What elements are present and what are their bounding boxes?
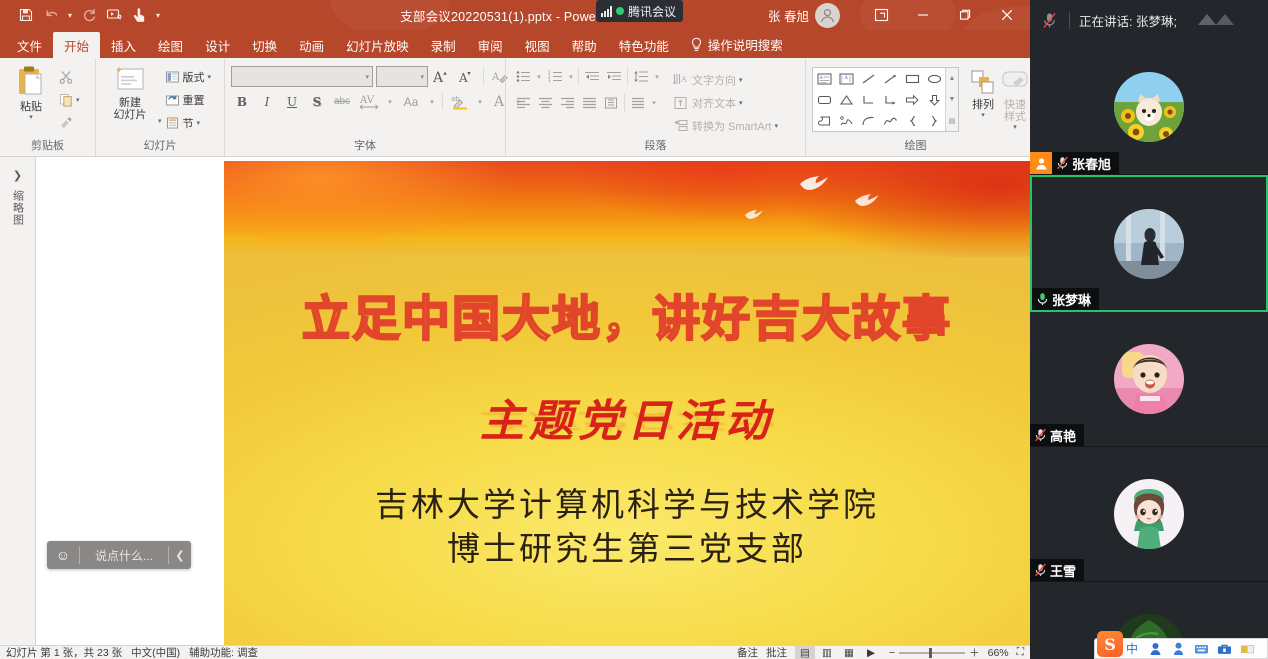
reading-view-button[interactable]: ▦ (839, 646, 859, 659)
shape-folded-corner-icon[interactable] (813, 110, 835, 131)
distribute-icon (604, 97, 619, 109)
grow-font-icon: A (433, 68, 451, 85)
bullets-dropdown-icon[interactable]: ▾ (534, 73, 544, 81)
svg-text:A: A (433, 70, 444, 85)
shrink-font-icon: A (458, 68, 476, 85)
work-area: ❯ 缩略图 立足中国大地，讲好吉大故事 主题党日活动 (0, 157, 1030, 645)
align-center-icon (538, 97, 553, 109)
section-icon (165, 116, 180, 130)
columns-dropdown-icon[interactable]: ▾ (649, 99, 659, 107)
avatar (1114, 479, 1184, 549)
participant-name-bar: 王雪 (1030, 559, 1084, 581)
emoji-icon[interactable]: ☺ (47, 547, 79, 563)
ribbon-display-options-button[interactable] (860, 0, 902, 30)
section-label: 节 (183, 115, 194, 131)
arrange-label: 排列 (972, 99, 994, 111)
zoom-in-icon[interactable]: ＋ (969, 645, 980, 659)
shape-down-arrow-icon[interactable] (923, 89, 945, 110)
participant-tile[interactable]: 王雪 (1030, 447, 1268, 582)
paragraph-group-title: 段落 (506, 137, 805, 156)
line-spacing-dropdown-icon[interactable]: ▾ (652, 73, 662, 81)
zoom-out-icon[interactable]: − (889, 647, 895, 659)
meeting-header: 正在讲话: 张梦琳; (1030, 0, 1268, 40)
text-direction-label: 文字方向 (692, 72, 736, 88)
shape-vertical-textbox-icon[interactable]: A (835, 68, 857, 89)
ime-keyboard-icon[interactable] (1192, 640, 1210, 658)
reset-icon (165, 93, 180, 107)
columns-icon (631, 97, 646, 109)
slides-group-title: 幻灯片 (96, 137, 224, 156)
shape-rounded-rect-icon[interactable] (813, 89, 835, 110)
numbering-icon: 123 (548, 70, 563, 83)
thumbnails-pane[interactable]: ❯ 缩略图 (0, 157, 36, 645)
powerpoint-window: ▾ ▾ 支部会议20220531(1).pptx - PowerPoint (0, 0, 1030, 659)
tab-help[interactable]: 帮助 (561, 32, 608, 58)
font-size-dropdown-icon[interactable]: ▾ (420, 73, 424, 81)
highlighter-icon: ab (450, 93, 470, 110)
slide-subtitle-reflection: 主题党日活动 (224, 408, 1030, 437)
participant-name-bar: 张春旭 (1030, 152, 1119, 174)
copy-icon (59, 93, 73, 107)
svg-text:A: A (818, 75, 823, 81)
chevron-right-icon[interactable]: ❯ (13, 169, 22, 182)
arrange-dropdown-icon[interactable]: ▾ (981, 112, 985, 119)
smartart-icon (673, 119, 689, 133)
customize-qat-icon[interactable]: ▾ (152, 4, 164, 26)
participant-name: 高艳 (1050, 426, 1076, 445)
paragraph-small-buttons: A 文字方向 ▾ 对齐文本 ▾ 转换为 SmartArt ▾ (670, 66, 781, 136)
shape-line-icon[interactable] (857, 68, 879, 89)
shape-rectangle-icon[interactable] (901, 68, 923, 89)
quick-styles-label: 快速样式 (999, 99, 1031, 123)
quick-styles-button[interactable]: 快速样式 ▾ (999, 67, 1031, 131)
shapes-gallery[interactable]: A A (812, 67, 959, 132)
comments-button[interactable]: 批注 (766, 645, 787, 659)
slideshow-view-button[interactable]: ▶ (861, 646, 881, 659)
minimize-button[interactable] (902, 0, 944, 30)
paragraph-row-2: ▾ (512, 92, 662, 113)
cut-button[interactable] (56, 66, 83, 87)
tab-record[interactable]: 录制 (420, 32, 467, 58)
font-name-combo[interactable]: ▾ (231, 66, 373, 87)
layout-label: 版式 (183, 69, 205, 85)
slides-small-buttons: 版式 ▾ 重置 节 ▾ (162, 63, 215, 133)
shape-right-arrow-icon[interactable] (901, 89, 923, 110)
svg-text:AV: AV (359, 95, 375, 106)
ribbon-group-drawing: A A (805, 58, 1025, 156)
decrease-indent-button[interactable] (581, 66, 603, 87)
lightbulb-icon (690, 37, 703, 52)
text-direction-dropdown-icon[interactable]: ▾ (739, 77, 743, 84)
mic-muted-icon (1030, 428, 1050, 442)
distribute-button[interactable] (600, 92, 622, 113)
ime-toolbox-icon[interactable] (1215, 640, 1233, 658)
paste-button[interactable]: 粘贴 ▾ (6, 63, 56, 121)
highlight-dropdown-icon[interactable]: ▾ (475, 98, 485, 106)
sorter-view-button[interactable]: ▥ (817, 646, 837, 659)
tab-animations[interactable]: 动画 (288, 32, 335, 58)
chevron-left-icon[interactable]: ❮ (169, 549, 191, 562)
convert-to-smartart-button[interactable]: 转换为 SmartArt ▾ (670, 115, 781, 136)
new-slide-button[interactable]: 新建 幻灯片 (102, 63, 158, 121)
participant-tile[interactable]: 张春旭 (1030, 40, 1268, 175)
tab-slideshow[interactable]: 幻灯片放映 (335, 32, 420, 58)
font-row-1: ▾ ▾ A A A (231, 66, 511, 87)
ime-menu-icon[interactable] (1238, 640, 1256, 658)
avatar[interactable] (815, 3, 840, 28)
align-left-icon (516, 97, 531, 109)
thumbnails-pane-label: 缩略图 (10, 190, 26, 226)
slide-canvas[interactable]: 立足中国大地，讲好吉大故事 主题党日活动 主题党日活动 吉林大学计算机科学与技术… (224, 161, 1030, 646)
justify-icon (582, 97, 597, 109)
text-direction-button[interactable]: A 文字方向 ▾ (670, 69, 781, 90)
increase-indent-button[interactable] (603, 66, 625, 87)
avatar (1114, 344, 1184, 414)
tencent-meeting-chip[interactable]: 腾讯会议 (596, 0, 683, 22)
justify-button[interactable] (578, 92, 600, 113)
participant-tile[interactable]: 高艳 (1030, 312, 1268, 447)
svg-text:A: A (458, 71, 468, 85)
sogou-logo-icon[interactable]: S (1097, 631, 1123, 657)
layout-button[interactable]: 版式 ▾ (162, 66, 215, 87)
participant-name-bar: 张梦琳 (1032, 288, 1099, 310)
clipboard-group-title: 剪贴板 (0, 137, 95, 156)
ime-toolbar[interactable]: S 中 (1094, 638, 1268, 659)
italic-button[interactable]: I (256, 91, 278, 112)
ribbon-body: 粘贴 ▾ ▾ (0, 58, 1030, 157)
ribbon-group-paragraph: ▾ 123 ▾ ▾ (505, 58, 805, 156)
grow-font-button[interactable]: A (431, 66, 453, 87)
zoom-knob[interactable] (929, 648, 932, 658)
tab-design[interactable]: 设计 (194, 32, 241, 58)
tab-file[interactable]: 文件 (6, 32, 53, 58)
comment-pill[interactable]: ☺ 说点什么... ❮ (47, 541, 191, 569)
zoom-track[interactable] (899, 652, 965, 654)
change-case-dropdown-icon[interactable]: ▾ (427, 98, 437, 106)
change-case-button[interactable]: Aa (398, 91, 424, 112)
mic-muted-icon (1030, 563, 1050, 577)
tab-view[interactable]: 视图 (514, 32, 561, 58)
shape-curve-icon[interactable] (879, 110, 901, 131)
scissors-icon (59, 70, 73, 84)
numbering-dropdown-icon[interactable]: ▾ (566, 73, 576, 81)
layout-dropdown-icon[interactable]: ▾ (208, 74, 212, 81)
align-text-icon (673, 96, 689, 110)
shape-left-brace-icon[interactable] (901, 110, 923, 131)
status-bar-right: 备注 批注 ▤ ▥ ▦ ▶ − ＋ 66% ⛶ (737, 645, 1030, 659)
shapes-grid: A A (813, 68, 945, 131)
align-text-dropdown-icon[interactable]: ▾ (739, 100, 743, 107)
align-text-button[interactable]: 对齐文本 ▾ (670, 92, 781, 113)
format-painter-button[interactable] (56, 112, 83, 133)
paste-dropdown-icon[interactable]: ▾ (29, 114, 33, 121)
participant-tile[interactable]: 张梦琳 (1030, 175, 1268, 312)
reset-label: 重置 (183, 92, 205, 108)
mic-active-icon (1032, 292, 1052, 306)
avatar (1114, 209, 1184, 279)
ribbon-group-font: ▾ ▾ A A A B I U (224, 58, 505, 156)
slide-organization[interactable]: 吉林大学计算机科学与技术学院 博士研究生第三党支部 (224, 483, 1030, 571)
character-spacing-button[interactable]: AV (356, 91, 382, 112)
meeting-status-dot (616, 7, 624, 15)
restore-button[interactable] (944, 0, 986, 30)
dove-icon-3 (744, 207, 764, 225)
arrange-icon (967, 69, 999, 97)
ribbon-tabs: 文件 开始 插入 绘图 设计 切换 动画 幻灯片放映 录制 审阅 视图 帮助 特… (0, 30, 1030, 58)
collapse-chevrons-icon[interactable] (1196, 12, 1242, 28)
header-divider (1069, 12, 1070, 29)
reset-button[interactable]: 重置 (162, 89, 215, 110)
paragraph-divider-1 (578, 68, 579, 85)
participant-name: 王雪 (1050, 561, 1076, 580)
align-right-icon (560, 97, 575, 109)
svg-text:A: A (843, 75, 848, 81)
participant-name: 张梦琳 (1052, 290, 1091, 309)
undo-icon[interactable] (39, 4, 63, 26)
quick-access-toolbar: ▾ ▾ (0, 4, 164, 26)
text-shadow-button[interactable]: S (306, 91, 328, 112)
notes-button[interactable]: 备注 (737, 645, 758, 659)
copy-dropdown-icon[interactable]: ▾ (76, 97, 80, 104)
drawing-group-title: 绘图 (806, 137, 1025, 156)
shrink-font-button[interactable]: A (456, 66, 478, 87)
tab-home[interactable]: 开始 (53, 32, 100, 58)
clipboard-small-buttons: ▾ (56, 63, 83, 133)
svg-text:A: A (491, 72, 500, 83)
paragraph-divider-2 (627, 68, 628, 85)
ime-chinese-mode-icon[interactable]: 中 (1123, 640, 1141, 658)
section-dropdown-icon[interactable]: ▾ (197, 120, 201, 127)
save-icon[interactable] (14, 4, 38, 26)
screen-root: ▾ ▾ 支部会议20220531(1).pptx - PowerPoint (0, 0, 1268, 659)
tab-draw[interactable]: 绘图 (147, 32, 194, 58)
svg-text:3: 3 (548, 78, 551, 83)
tencent-meeting-chip-label: 腾讯会议 (628, 3, 676, 20)
shapes-more-icon[interactable]: ▤ (946, 110, 958, 131)
status-bar-left: 幻灯片 第 1 张，共 23 张 中文(中国) 辅助功能: 调查 (0, 645, 258, 659)
undo-dropdown-icon[interactable]: ▾ (64, 4, 76, 26)
shape-textbox-icon[interactable]: A (813, 68, 835, 89)
tell-me-search[interactable]: 操作说明搜索 (680, 30, 793, 58)
quick-styles-dropdown-icon[interactable]: ▾ (1013, 124, 1017, 131)
font-group-title: 字体 (225, 137, 505, 156)
svg-text:A: A (680, 75, 687, 84)
strikethrough-button[interactable]: abc (331, 91, 353, 112)
shape-right-brace-icon[interactable] (923, 110, 945, 131)
align-left-button[interactable] (512, 92, 534, 113)
font-divider-2 (442, 93, 443, 110)
shape-arc-icon[interactable] (857, 110, 879, 131)
line-spacing-icon (634, 70, 649, 83)
accessibility-label[interactable]: 辅助功能: 调查 (189, 645, 258, 659)
host-badge (1030, 152, 1052, 174)
close-button[interactable] (986, 0, 1028, 30)
ime-user-icon[interactable] (1169, 640, 1187, 658)
account-name[interactable]: 张 春旭 (768, 6, 809, 25)
paragraph-divider-3 (624, 94, 625, 111)
slide-org-line-2: 博士研究生第三党支部 (224, 527, 1030, 571)
format-painter-icon (59, 116, 73, 130)
tab-review[interactable]: 审阅 (467, 32, 514, 58)
participant-name-bar: 高艳 (1030, 424, 1084, 446)
section-button[interactable]: 节 ▾ (162, 112, 215, 133)
touch-mode-icon[interactable] (127, 4, 151, 26)
bullets-button[interactable] (512, 66, 534, 87)
tab-special-features[interactable]: 特色功能 (608, 32, 680, 58)
numbering-button[interactable]: 123 (544, 66, 566, 87)
columns-button[interactable] (627, 92, 649, 113)
comment-input[interactable]: 说点什么... (80, 547, 168, 564)
signal-bars-icon (601, 6, 612, 17)
shape-elbow-arrow-icon[interactable] (879, 89, 901, 110)
mic-muted-icon[interactable] (1038, 12, 1060, 29)
paragraph-row-1: ▾ 123 ▾ ▾ (512, 66, 662, 87)
tab-transitions[interactable]: 切换 (241, 32, 288, 58)
bullets-icon (516, 70, 531, 83)
dove-icon-1 (799, 175, 829, 196)
font-name-dropdown-icon[interactable]: ▾ (365, 73, 369, 81)
smartart-label: 转换为 SmartArt (692, 118, 771, 134)
quick-styles-icon (999, 69, 1031, 97)
zoom-slider[interactable]: − ＋ (889, 645, 980, 659)
align-center-button[interactable] (534, 92, 556, 113)
tencent-meeting-sidebar: 正在讲话: 张梦琳; (1030, 0, 1268, 659)
slide-org-line-1: 吉林大学计算机科学与技术学院 (224, 483, 1030, 527)
slide-banner-decor (224, 161, 1030, 257)
line-spacing-button[interactable] (630, 66, 652, 87)
slide-count-label[interactable]: 幻灯片 第 1 张，共 23 张 (6, 645, 122, 659)
avatar (1114, 72, 1184, 142)
dove-icon-2 (854, 193, 880, 212)
font-row-2: B I U S abc AV ▾ Aa ▾ ab ▾ A ▾ (231, 91, 523, 112)
character-spacing-icon: AV (358, 93, 380, 110)
layout-icon (165, 70, 180, 84)
smartart-dropdown-icon[interactable]: ▾ (774, 123, 778, 130)
shapes-scroll-down-icon[interactable]: ▼ (946, 89, 958, 110)
shape-oval-icon[interactable] (923, 68, 945, 89)
slide-pane[interactable]: 立足中国大地，讲好吉大故事 主题党日活动 主题党日活动 吉林大学计算机科学与技术… (37, 157, 1030, 645)
decrease-indent-icon (585, 70, 600, 83)
font-size-combo[interactable]: ▾ (376, 66, 428, 87)
view-buttons: ▤ ▥ ▦ ▶ (795, 646, 881, 659)
shapes-gallery-scrollbar[interactable]: ▲ ▼ ▤ (945, 68, 958, 131)
language-label[interactable]: 中文(中国) (131, 645, 180, 659)
increase-indent-icon (607, 70, 622, 83)
tab-insert[interactable]: 插入 (100, 32, 147, 58)
highlight-button[interactable]: ab (448, 91, 472, 112)
paste-icon (15, 65, 47, 99)
mic-muted-icon (1052, 156, 1072, 170)
fit-to-window-icon[interactable]: ⛶ (1017, 646, 1024, 659)
ribbon-group-clipboard: 粘贴 ▾ ▾ (0, 58, 95, 156)
shape-triangle-icon[interactable] (835, 89, 857, 110)
new-slide-label-line1: 新建 (119, 97, 141, 109)
underline-button[interactable]: U (281, 91, 303, 112)
bold-button[interactable]: B (231, 91, 253, 112)
shape-elbow-connector-icon[interactable] (857, 89, 879, 110)
redo-icon[interactable] (77, 4, 101, 26)
new-slide-icon (113, 65, 147, 95)
arrange-button[interactable]: 排列 ▾ (967, 67, 999, 119)
shape-arrow-icon[interactable] (879, 68, 901, 89)
title-bar: ▾ ▾ 支部会议20220531(1).pptx - PowerPoint (0, 0, 1030, 30)
copy-button[interactable]: ▾ (56, 89, 83, 110)
normal-view-button[interactable]: ▤ (795, 646, 815, 659)
ribbon-group-slides: 新建 幻灯片 ▾ 版式 ▾ 重置 (95, 58, 224, 156)
font-divider-1 (483, 68, 484, 85)
shape-freeform-icon[interactable] (835, 110, 857, 131)
participant-name: 张春旭 (1072, 154, 1111, 173)
participant-list[interactable]: 张春旭 (1030, 40, 1268, 659)
tell-me-label: 操作说明搜索 (708, 35, 783, 54)
zoom-level-label[interactable]: 66% (988, 647, 1009, 659)
slide-title[interactable]: 立足中国大地，讲好吉大故事 (224, 279, 1030, 349)
paste-label: 粘贴 (20, 101, 42, 113)
titlebar-right: 张 春旭 (768, 0, 1030, 30)
character-spacing-dropdown-icon[interactable]: ▾ (385, 98, 395, 106)
status-bar: 幻灯片 第 1 张，共 23 张 中文(中国) 辅助功能: 调查 备注 批注 ▤… (0, 645, 1030, 659)
align-right-button[interactable] (556, 92, 578, 113)
shapes-scroll-up-icon[interactable]: ▲ (946, 68, 958, 89)
text-direction-icon: A (673, 73, 689, 87)
new-slide-label-line2: 幻灯片 (114, 109, 147, 121)
align-text-label: 对齐文本 (692, 95, 736, 111)
speaking-status: 正在讲话: 张梦琳; (1079, 11, 1177, 30)
ime-person-icon[interactable] (1146, 640, 1164, 658)
start-from-beginning-icon[interactable] (102, 4, 126, 26)
